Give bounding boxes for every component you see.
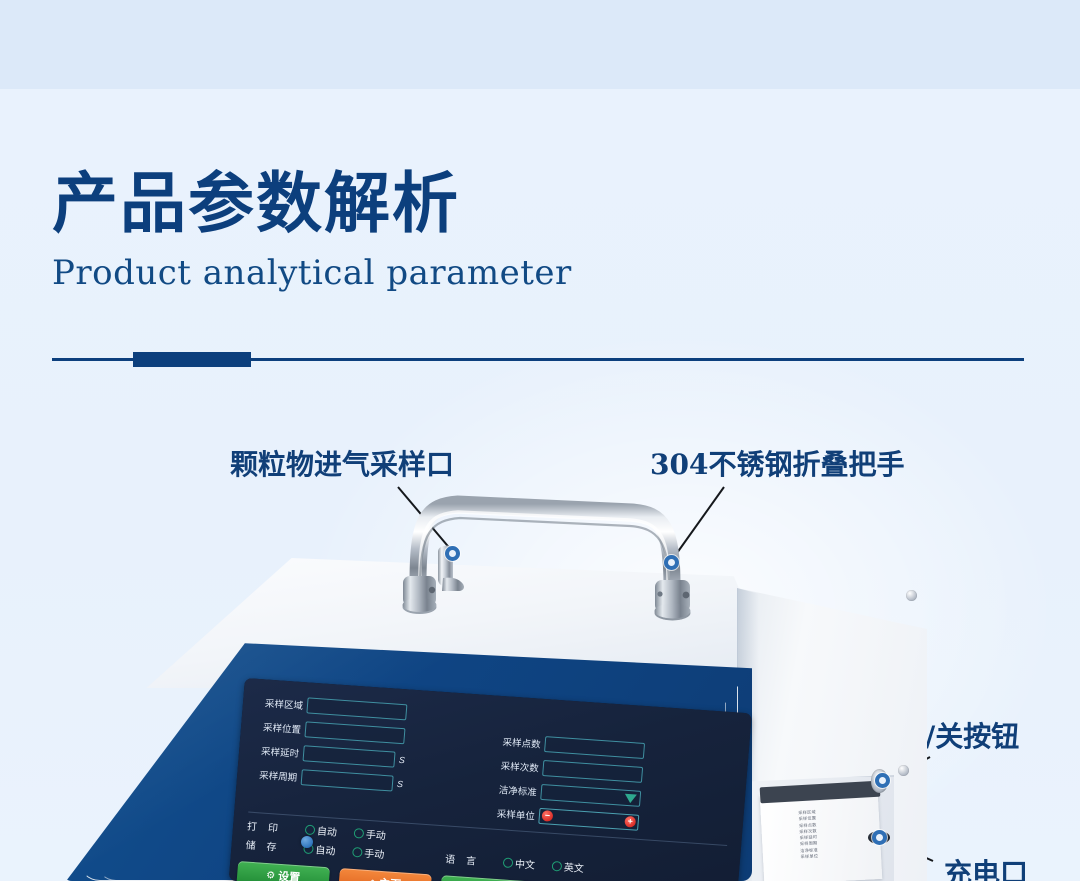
callout-marker-handle bbox=[664, 555, 679, 570]
label-clean-standard: 洁净标准 bbox=[490, 781, 537, 798]
label-sample-position: 采样位置 bbox=[255, 718, 302, 735]
minus-icon[interactable]: − bbox=[541, 810, 553, 822]
input-sample-points[interactable] bbox=[544, 736, 645, 759]
page-title-en: Product analytical parameter bbox=[52, 253, 1032, 293]
printer-paper-text: 采样区域 采样位置 采样点数 采样次数 采样延时 采样周期 洁净标准 采样单位 bbox=[798, 806, 886, 881]
label-print: 打印 bbox=[247, 818, 306, 837]
label-sample-area: 采样区域 bbox=[257, 694, 304, 711]
radio-circle-icon bbox=[352, 846, 363, 857]
heading-divider bbox=[52, 352, 1024, 368]
input-sample-delay[interactable] bbox=[303, 745, 396, 767]
radio-print-auto-label: 自动 bbox=[316, 822, 337, 838]
background-band-top bbox=[0, 0, 1080, 89]
page-title-cn: 产品参数解析 bbox=[52, 168, 1032, 239]
screw-mid-right bbox=[898, 765, 909, 776]
button-settings-label: 设置 bbox=[278, 868, 301, 881]
input-sample-position[interactable] bbox=[304, 721, 405, 744]
label-sample-points: 采样点数 bbox=[494, 733, 541, 750]
button-settings[interactable]: ⚙ 设置 bbox=[236, 861, 330, 881]
input-sample-area[interactable] bbox=[306, 697, 407, 720]
divider-accent-bar bbox=[133, 352, 251, 367]
callout-marker-charge bbox=[872, 830, 887, 845]
plus-icon[interactable]: + bbox=[624, 816, 636, 828]
stainless-steel-handle[interactable] bbox=[380, 490, 720, 660]
form-column-left: 采样区域 采样位置 采样延时 S 采样周期 bbox=[248, 693, 497, 827]
callout-marker-power bbox=[875, 773, 890, 788]
button-home-label: 主页 bbox=[378, 875, 401, 881]
label-sample-count: 采样次数 bbox=[492, 757, 539, 774]
radio-storage-manual[interactable]: 手动 bbox=[352, 844, 385, 861]
radio-language-chinese-label: 中文 bbox=[514, 855, 535, 871]
callout-marker-inlet bbox=[445, 546, 460, 561]
radio-circle-icon bbox=[305, 824, 316, 835]
chevron-down-icon bbox=[624, 793, 637, 803]
input-sample-period[interactable] bbox=[301, 769, 394, 791]
label-storage: 储存 bbox=[245, 836, 304, 855]
radio-circle-icon bbox=[354, 827, 365, 838]
label-language: 语言 bbox=[445, 850, 504, 869]
page-heading: 产品参数解析 Product analytical parameter bbox=[52, 168, 1032, 293]
stepper-sample-unit[interactable]: − + bbox=[538, 807, 639, 830]
label-sample-period: 采样周期 bbox=[251, 766, 298, 783]
input-sample-count[interactable] bbox=[542, 760, 643, 783]
unit-sample-delay: S bbox=[399, 754, 406, 764]
gear-icon: ⚙ bbox=[266, 869, 276, 881]
radio-language-chinese[interactable]: 中文 bbox=[502, 854, 535, 871]
radio-language-english[interactable]: 英文 bbox=[551, 858, 584, 875]
radio-storage-manual-label: 手动 bbox=[364, 845, 385, 861]
radio-print-manual[interactable]: 手动 bbox=[353, 825, 386, 842]
radio-circle-icon bbox=[503, 857, 514, 868]
select-clean-standard[interactable] bbox=[540, 783, 641, 806]
radio-print-manual-label: 手动 bbox=[365, 826, 386, 842]
radio-circle-icon bbox=[552, 860, 563, 871]
form-column-right: 采样点数 采样次数 洁净标准 bbox=[488, 710, 737, 844]
radio-storage-auto-label: 自动 bbox=[315, 841, 336, 857]
button-sampling[interactable]: ❮ 采样 bbox=[440, 875, 534, 881]
label-sample-unit: 采样单位 bbox=[488, 805, 535, 822]
product-parameter-page: 产品参数解析 Product analytical parameter 颗粒物进… bbox=[0, 0, 1080, 881]
screw-top-right bbox=[906, 590, 917, 601]
device-lcd-screen[interactable]: 采样区域 采样位置 采样延时 S 采样周期 bbox=[229, 678, 752, 881]
label-sample-delay: 采样延时 bbox=[253, 742, 300, 759]
lcd-ui-root: 采样区域 采样位置 采样延时 S 采样周期 bbox=[229, 678, 752, 881]
unit-sample-period: S bbox=[397, 778, 404, 788]
radio-language-english-label: 英文 bbox=[563, 859, 584, 875]
button-home[interactable]: ⌂ 主页 bbox=[338, 868, 432, 881]
screen-indicator-led bbox=[301, 836, 313, 848]
home-icon: ⌂ bbox=[368, 877, 376, 881]
